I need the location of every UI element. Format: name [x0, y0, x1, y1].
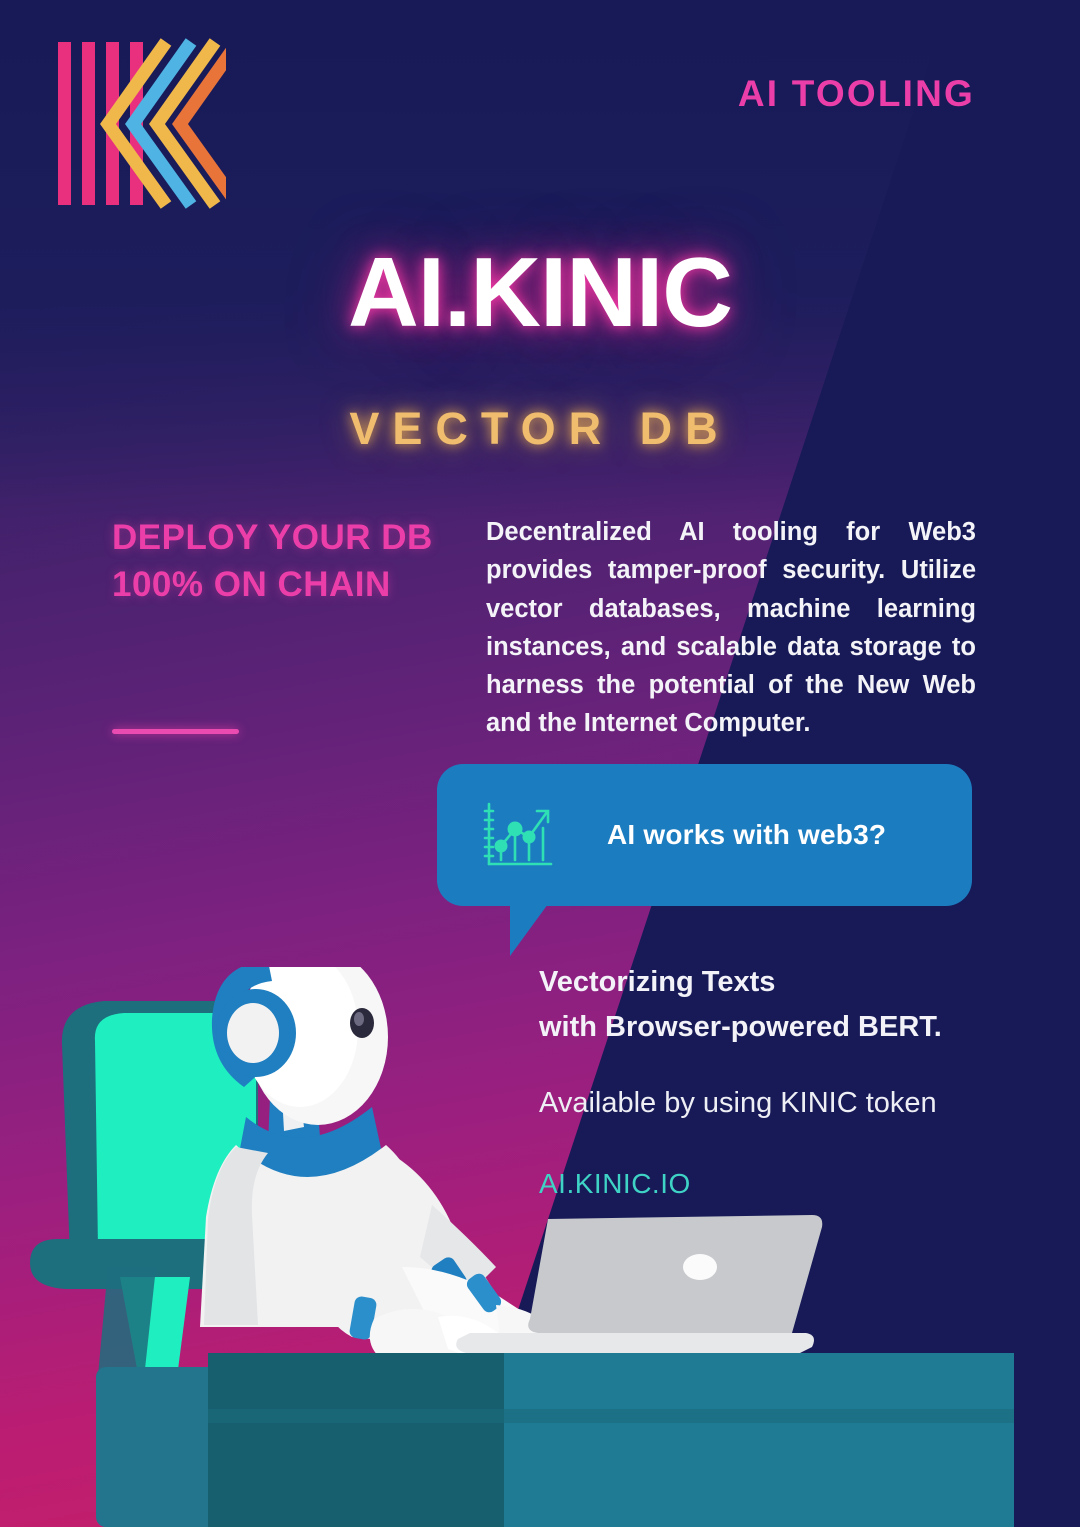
desk [208, 1353, 1014, 1527]
kinic-k-logo-icon [56, 28, 226, 218]
robot-figure [200, 967, 566, 1365]
left-heading: DEPLOY YOUR DB 100% ON CHAIN [112, 515, 442, 608]
speech-bubble-tail [510, 904, 548, 956]
line-chart-trending-up-icon [481, 798, 555, 872]
robot-at-desk-illustration [0, 967, 1080, 1527]
heading-divider [112, 729, 239, 734]
speech-bubble-text: AI works with web3? [607, 819, 886, 851]
eyebrow-label: AI TOOLING [738, 73, 975, 115]
poster-canvas: AI TOOLING AI.KINIC VECTOR DB DEPLOY YOU… [0, 0, 1080, 1527]
page-title: AI.KINIC [0, 236, 1080, 349]
page-subtitle: VECTOR DB [0, 403, 1080, 455]
speech-bubble: AI works with web3? [437, 764, 972, 906]
body-paragraph: Decentralized AI tooling for Web3 provid… [486, 513, 976, 743]
